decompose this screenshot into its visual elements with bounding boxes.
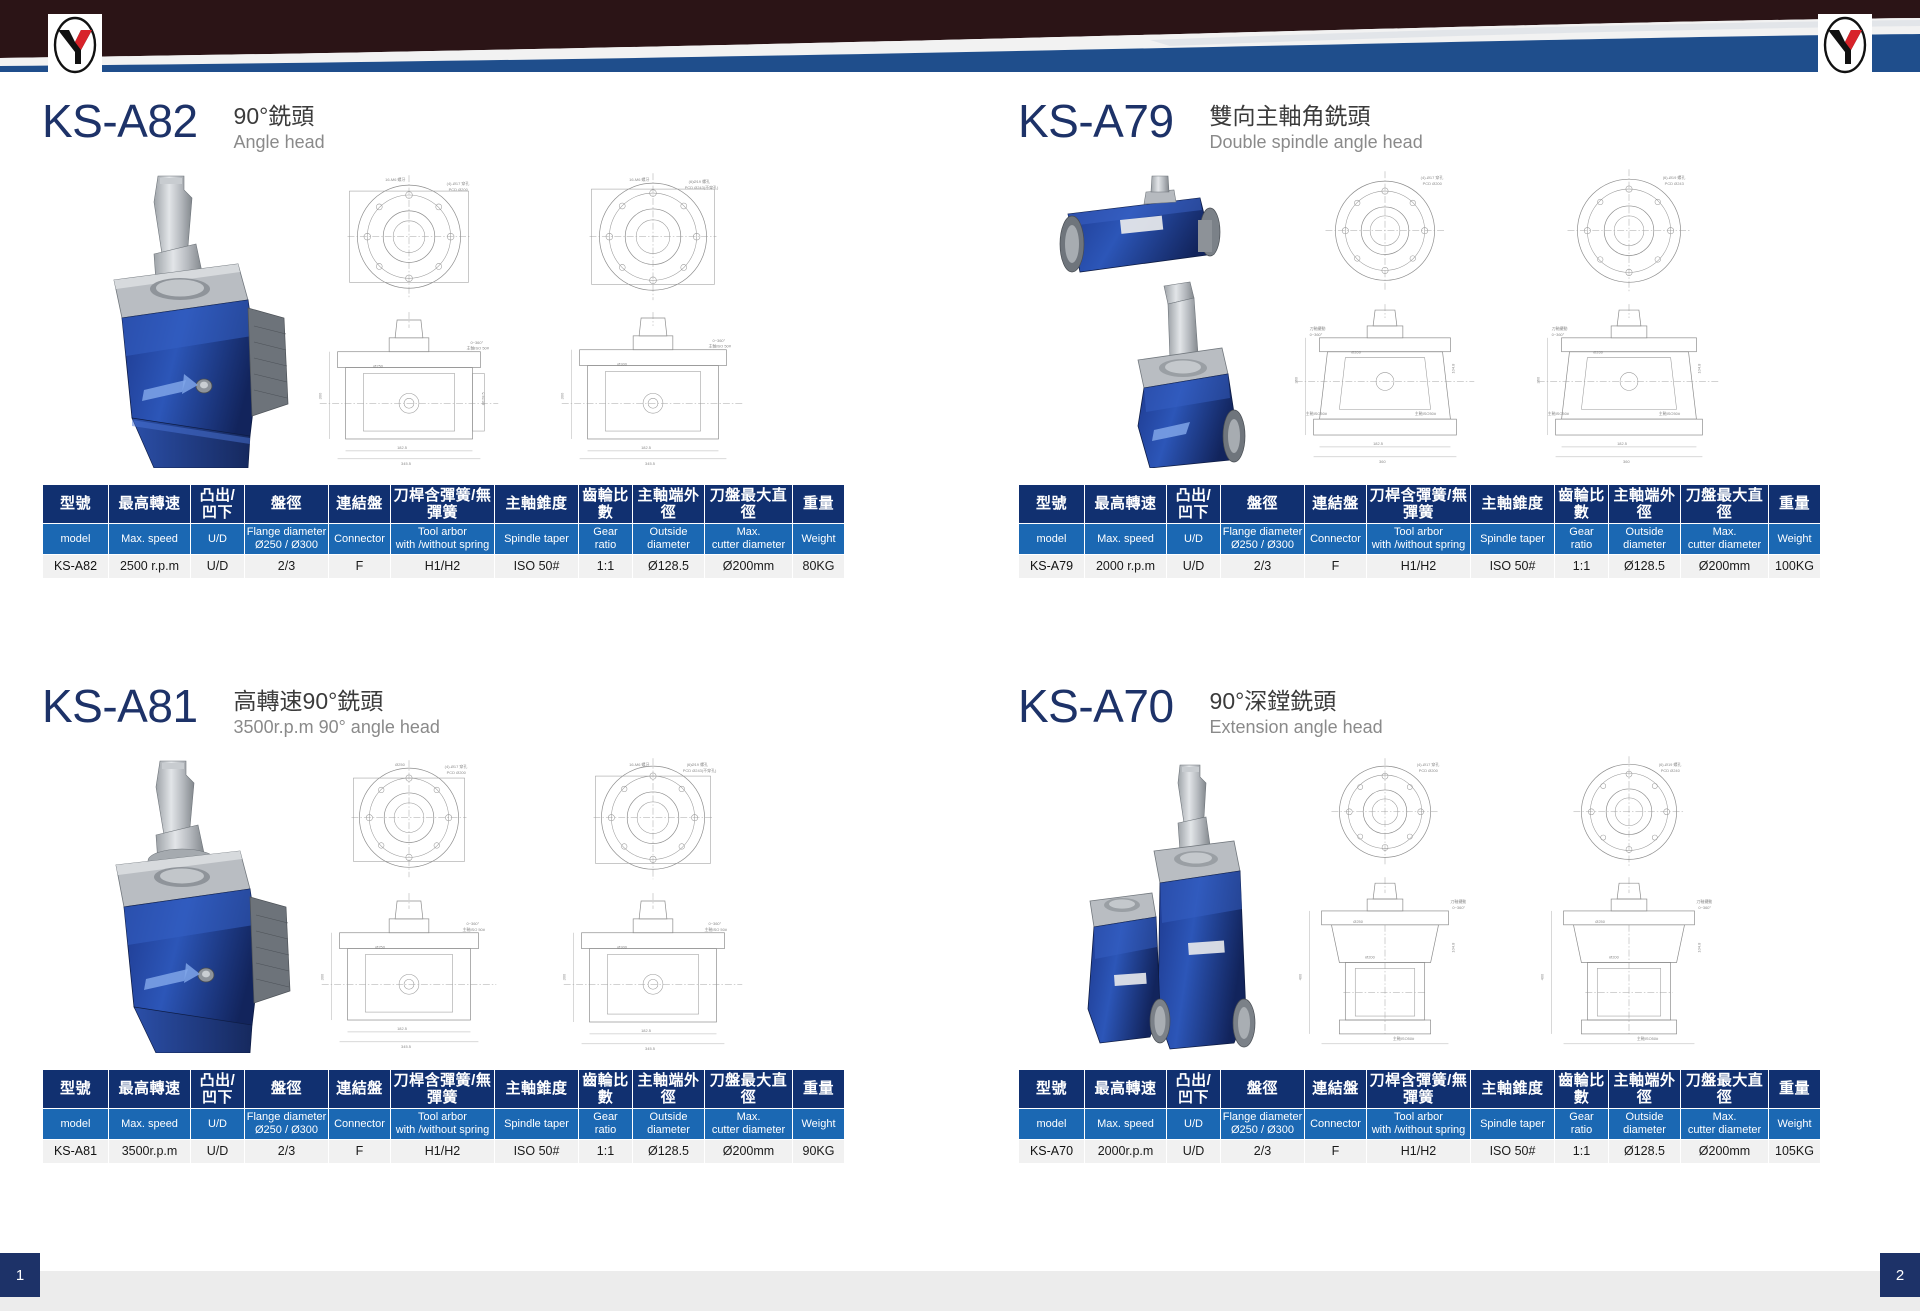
product-photo	[1038, 753, 1268, 1053]
svg-text:300: 300	[320, 972, 325, 979]
svg-text:主軸ISO50#: 主軸ISO50#	[1548, 411, 1570, 416]
svg-text:0~360°: 0~360°	[713, 337, 726, 342]
th-cn-2: 凸出/凹下	[1167, 484, 1221, 524]
svg-text:360: 360	[1623, 458, 1630, 463]
th-cn-7: 齒輪比數	[1555, 1069, 1609, 1109]
svg-text:300: 300	[318, 391, 323, 398]
th-en-4: Connector	[329, 524, 391, 555]
th-en-7: Gearratio	[1555, 524, 1609, 555]
svg-text:360: 360	[1379, 458, 1386, 463]
svg-text:主軸ISO 50#: 主軸ISO 50#	[467, 345, 490, 350]
cell-outside-diameter: Ø128.5	[633, 554, 705, 578]
product-media: 16-M6 螺牙 (4)-Ø17 穿孔 PCD Ø200	[42, 168, 772, 478]
svg-text:主軸ISO50#: 主軸ISO50#	[1306, 411, 1328, 416]
th-cn-6: 主軸錐度	[495, 484, 579, 524]
product-model-code: KS-A82	[42, 98, 198, 144]
th-cn-10: 重量	[1769, 1069, 1821, 1109]
product-title-row: KS-A82 90°銑頭 Angle head	[42, 98, 845, 154]
svg-text:104.8: 104.8	[1450, 362, 1455, 373]
svg-text:0~360°: 0~360°	[1310, 331, 1323, 336]
cell-max-speed: 2500 r.p.m	[109, 554, 191, 578]
cell-connector: F	[1305, 554, 1367, 578]
cell-spindle-taper: ISO 50#	[495, 554, 579, 578]
th-cn-8: 主軸端外徑	[1609, 1069, 1681, 1109]
product-title-row: KS-A81 高轉速90°銑頭 3500r.p.m 90° angle head	[42, 683, 845, 739]
th-cn-5: 刀桿含彈簧/無彈簧	[391, 484, 495, 524]
th-en-1: Max. speed	[109, 1109, 191, 1140]
th-en-8: Outsidediameter	[633, 1109, 705, 1140]
svg-text:Ø200: Ø200	[1609, 954, 1619, 959]
svg-text:(4)-Ø17 穿孔: (4)-Ø17 穿孔	[1417, 762, 1440, 767]
th-en-4: Connector	[329, 1109, 391, 1140]
product-title-row: KS-A70 90°深鏜銑頭 Extension angle head	[1018, 683, 1821, 739]
th-cn-4: 連結盤	[329, 1069, 391, 1109]
th-cn-6: 主軸錐度	[1471, 1069, 1555, 1109]
svg-text:0~360°: 0~360°	[470, 339, 483, 344]
th-cn-7: 齒輪比數	[579, 1069, 633, 1109]
product-title-en: Extension angle head	[1210, 716, 1383, 739]
svg-text:主軸ISO50#: 主軸ISO50#	[1415, 411, 1437, 416]
th-cn-9: 刀盤最大直徑	[705, 1069, 793, 1109]
svg-text:Ø200: Ø200	[1593, 349, 1603, 354]
th-cn-2: 凸出/凹下	[191, 484, 245, 524]
svg-text:(4)-Ø17 穿孔: (4)-Ø17 穿孔	[445, 764, 468, 769]
th-cn-10: 重量	[793, 1069, 845, 1109]
th-en-7: Gearratio	[579, 1109, 633, 1140]
product-title-en: Double spindle angle head	[1210, 131, 1423, 154]
th-cn-3: 盤徑	[1221, 1069, 1305, 1109]
spec-table-ks-a79: 型號 最高轉速 凸出/凹下 盤徑 連結盤 刀桿含彈簧/無彈簧 主軸錐度 齒輪比數…	[1018, 484, 1821, 579]
technical-drawings: (4)-Ø17 穿孔 PCD Ø200	[1266, 168, 1748, 468]
svg-text:16-M6 螺牙: 16-M6 螺牙	[629, 762, 649, 767]
th-en-6: Spindle taper	[1471, 1109, 1555, 1140]
th-en-2: U/D	[1167, 524, 1221, 555]
table-row: KS-A70 2000r.p.m U/D 2/3 F H1/H2 ISO 50#…	[1019, 1139, 1821, 1163]
table-header-en: model Max. speed U/D Flange diameterØ250…	[43, 1109, 845, 1140]
product-photo	[62, 753, 292, 1053]
product-media: Ø250 (4)-Ø17 穿孔 PCD Ø200	[42, 753, 772, 1063]
th-en-0: model	[43, 524, 109, 555]
cell-max-speed: 2000r.p.m	[1085, 1139, 1167, 1163]
table-row: KS-A82 2500 r.p.m U/D 2/3 F H1/H2 ISO 50…	[43, 554, 845, 578]
cell-connector: F	[329, 554, 391, 578]
product-title-cn: 90°銑頭	[234, 102, 325, 130]
page-number-right: 2	[1880, 1253, 1920, 1297]
drawing-side-view: (6)-Ø19 螺孔 PCD Ø240	[1510, 753, 1748, 1053]
svg-text:182.5: 182.5	[397, 1025, 408, 1030]
th-en-6: Spindle taper	[1471, 524, 1555, 555]
svg-text:Ø250: Ø250	[1595, 918, 1605, 923]
svg-text:(6)-Ø19 螺孔: (6)-Ø19 螺孔	[1663, 175, 1686, 180]
svg-text:PCD Ø243(不穿孔): PCD Ø243(不穿孔)	[683, 768, 717, 773]
cell-max-speed: 2000 r.p.m	[1085, 554, 1167, 578]
product-title-cn: 雙向主軸角銑頭	[1210, 102, 1423, 130]
svg-text:104.8: 104.8	[1696, 362, 1701, 373]
th-cn-1: 最高轉速	[109, 1069, 191, 1109]
page-number-left: 1	[0, 1253, 40, 1297]
svg-text:400: 400	[1298, 972, 1303, 979]
th-cn-5: 刀桿含彈簧/無彈簧	[1367, 1069, 1471, 1109]
th-cn-6: 主軸錐度	[495, 1069, 579, 1109]
th-cn-3: 盤徑	[245, 484, 329, 524]
th-en-1: Max. speed	[109, 524, 191, 555]
svg-text:刀軸擺動: 刀軸擺動	[1310, 325, 1326, 330]
svg-text:PCD Ø200: PCD Ø200	[449, 187, 469, 192]
svg-text:Ø300: Ø300	[617, 944, 627, 949]
th-en-9: Max.cutter diameter	[1681, 524, 1769, 555]
th-en-0: model	[1019, 1109, 1085, 1140]
th-cn-9: 刀盤最大直徑	[705, 484, 793, 524]
th-en-5: Tool arborwith /without spring	[1367, 1109, 1471, 1140]
product-title-en: Angle head	[234, 131, 325, 154]
cell-model: KS-A81	[43, 1139, 109, 1163]
svg-text:400: 400	[1540, 972, 1545, 979]
cell-connector: F	[1305, 1139, 1367, 1163]
th-cn-0: 型號	[43, 1069, 109, 1109]
th-en-3: Flange diameterØ250 / Ø300	[245, 524, 329, 555]
th-cn-4: 連結盤	[329, 484, 391, 524]
cell-max-cutter-diameter: Ø200mm	[705, 1139, 793, 1163]
th-en-9: Max.cutter diameter	[705, 524, 793, 555]
cell-max-cutter-diameter: Ø200mm	[705, 554, 793, 578]
table-header-cn: 型號 最高轉速 凸出/凹下 盤徑 連結盤 刀桿含彈簧/無彈簧 主軸錐度 齒輪比數…	[43, 1069, 845, 1109]
cell-max-cutter-diameter: Ø200mm	[1681, 1139, 1769, 1163]
th-en-3: Flange diameterØ250 / Ø300	[1221, 1109, 1305, 1140]
svg-text:Ø300: Ø300	[617, 361, 627, 366]
th-cn-4: 連結盤	[1305, 1069, 1367, 1109]
cell-tool-arbor: H1/H2	[1367, 1139, 1471, 1163]
th-en-2: U/D	[1167, 1109, 1221, 1140]
th-cn-3: 盤徑	[1221, 484, 1305, 524]
cell-gear-ratio: 1:1	[1555, 1139, 1609, 1163]
svg-text:PCD Ø200: PCD Ø200	[1419, 768, 1439, 773]
header-banner	[0, 0, 1920, 72]
spec-table-ks-a82: 型號 最高轉速 凸出/凹下 盤徑 連結盤 刀桿含彈簧/無彈簧 主軸錐度 齒輪比數…	[42, 484, 845, 579]
svg-text:0~360°: 0~360°	[1698, 904, 1711, 909]
company-logo-icon	[1818, 14, 1872, 76]
th-en-0: model	[43, 1109, 109, 1140]
cell-spindle-taper: ISO 50#	[495, 1139, 579, 1163]
table-header-cn: 型號 最高轉速 凸出/凹下 盤徑 連結盤 刀桿含彈簧/無彈簧 主軸錐度 齒輪比數…	[1019, 484, 1821, 524]
footer-bar	[0, 1271, 1920, 1311]
svg-text:(6)Ø19 螺孔: (6)Ø19 螺孔	[687, 762, 708, 767]
th-en-10: Weight	[1769, 524, 1821, 555]
drawing-side-view: (6)-Ø19 螺孔 PCD Ø243	[1510, 168, 1748, 468]
svg-text:PCD Ø240: PCD Ø240	[1661, 768, 1681, 773]
th-en-0: model	[1019, 524, 1085, 555]
th-cn-9: 刀盤最大直徑	[1681, 484, 1769, 524]
svg-text:182.5: 182.5	[641, 1027, 652, 1032]
th-en-4: Connector	[1305, 1109, 1367, 1140]
product-photo	[62, 168, 292, 468]
svg-text:360: 360	[1536, 376, 1541, 383]
table-header-en: model Max. speed U/D Flange diameterØ250…	[1019, 1109, 1821, 1140]
product-media: (4)-Ø17 穿孔 PCD Ø200	[1018, 753, 1748, 1063]
th-cn-5: 刀桿含彈簧/無彈簧	[391, 1069, 495, 1109]
cell-weight: 105KG	[1769, 1139, 1821, 1163]
svg-text:PCD Ø200: PCD Ø200	[1423, 181, 1443, 186]
svg-text:主軸ISO 50#: 主軸ISO 50#	[709, 343, 732, 348]
svg-text:主軸ISO 50#: 主軸ISO 50#	[705, 926, 728, 931]
svg-text:182.5: 182.5	[641, 444, 652, 449]
svg-text:16-M6 螺牙: 16-M6 螺牙	[385, 177, 405, 182]
cell-tool-arbor: H1/H2	[391, 1139, 495, 1163]
th-en-2: U/D	[191, 1109, 245, 1140]
svg-text:0~360°: 0~360°	[1452, 904, 1465, 909]
svg-text:300: 300	[560, 391, 565, 398]
cell-gear-ratio: 1:1	[1555, 554, 1609, 578]
svg-text:Ø200: Ø200	[1351, 349, 1361, 354]
cell-ud: U/D	[191, 554, 245, 578]
cell-flange-diameter: 2/3	[245, 554, 329, 578]
product-photo	[1038, 168, 1268, 468]
cell-model: KS-A82	[43, 554, 109, 578]
svg-text:182.5: 182.5	[1373, 440, 1384, 445]
cell-outside-diameter: Ø128.5	[1609, 1139, 1681, 1163]
product-media: (4)-Ø17 穿孔 PCD Ø200	[1018, 168, 1748, 478]
cell-flange-diameter: 2/3	[245, 1139, 329, 1163]
th-cn-10: 重量	[793, 484, 845, 524]
cell-tool-arbor: H1/H2	[391, 554, 495, 578]
th-cn-10: 重量	[1769, 484, 1821, 524]
cell-gear-ratio: 1:1	[579, 554, 633, 578]
spec-table-ks-a70: 型號 最高轉速 凸出/凹下 盤徑 連結盤 刀桿含彈簧/無彈簧 主軸錐度 齒輪比數…	[1018, 1069, 1821, 1164]
svg-text:182.5: 182.5	[397, 444, 408, 449]
th-cn-3: 盤徑	[245, 1069, 329, 1109]
table-row: KS-A79 2000 r.p.m U/D 2/3 F H1/H2 ISO 50…	[1019, 554, 1821, 578]
th-en-7: Gearratio	[1555, 1109, 1609, 1140]
svg-text:(6)-Ø19 螺孔: (6)-Ø19 螺孔	[1659, 762, 1682, 767]
product-block-ks-a81: KS-A81 高轉速90°銑頭 3500r.p.m 90° angle head	[42, 683, 845, 1164]
svg-text:Ø250: Ø250	[395, 762, 405, 767]
table-row: KS-A81 3500r.p.m U/D 2/3 F H1/H2 ISO 50#…	[43, 1139, 845, 1163]
drawing-front-view: Ø250 (4)-Ø17 穿孔 PCD Ø200	[290, 753, 528, 1053]
svg-text:(4)-Ø17 穿孔: (4)-Ø17 穿孔	[1421, 175, 1444, 180]
cell-ud: U/D	[1167, 554, 1221, 578]
svg-text:104.8: 104.8	[1450, 941, 1455, 952]
svg-text:Ø250: Ø250	[1353, 918, 1363, 923]
cell-model: KS-A79	[1019, 554, 1085, 578]
drawing-front-view: 16-M6 螺牙 (4)-Ø17 穿孔 PCD Ø200	[290, 168, 528, 468]
svg-text:(4)-Ø17 穿孔: (4)-Ø17 穿孔	[447, 181, 470, 186]
drawing-side-view: 16-M6 螺牙 (6)Ø19 螺孔 PCD Ø243(不穿孔)	[534, 168, 772, 468]
svg-text:刀軸擺動: 刀軸擺動	[1552, 325, 1568, 330]
svg-text:0~360°: 0~360°	[467, 920, 480, 925]
th-cn-7: 齒輪比數	[579, 484, 633, 524]
th-cn-0: 型號	[1019, 1069, 1085, 1109]
product-block-ks-a70: KS-A70 90°深鏜銑頭 Extension angle head	[1018, 683, 1821, 1164]
cell-connector: F	[329, 1139, 391, 1163]
svg-text:104.8: 104.8	[1696, 941, 1701, 952]
product-title-row: KS-A79 雙向主軸角銑頭 Double spindle angle head	[1018, 98, 1821, 154]
svg-text:0~360°: 0~360°	[1552, 331, 1565, 336]
th-en-5: Tool arborwith /without spring	[391, 1109, 495, 1140]
company-logo-icon	[48, 14, 102, 76]
th-en-9: Max.cutter diameter	[1681, 1109, 1769, 1140]
th-cn-5: 刀桿含彈簧/無彈簧	[1367, 484, 1471, 524]
th-en-10: Weight	[793, 1109, 845, 1140]
svg-text:PCD Ø200: PCD Ø200	[447, 770, 467, 775]
cell-weight: 100KG	[1769, 554, 1821, 578]
cell-tool-arbor: H1/H2	[1367, 554, 1471, 578]
technical-drawings: Ø250 (4)-Ø17 穿孔 PCD Ø200	[290, 753, 772, 1053]
product-title-en: 3500r.p.m 90° angle head	[234, 716, 440, 739]
svg-text:刀軸擺動: 刀軸擺動	[1696, 899, 1712, 904]
th-en-6: Spindle taper	[495, 1109, 579, 1140]
svg-text:Ø250: Ø250	[373, 363, 383, 368]
cell-model: KS-A70	[1019, 1139, 1085, 1163]
svg-text:360: 360	[1294, 376, 1299, 383]
svg-text:Ø128.5: Ø128.5	[480, 391, 485, 405]
th-cn-8: 主軸端外徑	[1609, 484, 1681, 524]
cell-ud: U/D	[191, 1139, 245, 1163]
table-header-en: model Max. speed U/D Flange diameterØ250…	[43, 524, 845, 555]
cell-max-cutter-diameter: Ø200mm	[1681, 554, 1769, 578]
th-en-4: Connector	[1305, 524, 1367, 555]
th-en-9: Max.cutter diameter	[705, 1109, 793, 1140]
th-en-3: Flange diameterØ250 / Ø300	[245, 1109, 329, 1140]
svg-text:Ø250: Ø250	[375, 944, 385, 949]
th-en-10: Weight	[793, 524, 845, 555]
svg-text:刀軸擺動: 刀軸擺動	[1450, 899, 1466, 904]
th-en-8: Outsidediameter	[633, 524, 705, 555]
svg-text:(6)Ø19 螺孔: (6)Ø19 螺孔	[689, 179, 710, 184]
th-en-6: Spindle taper	[495, 524, 579, 555]
svg-text:300: 300	[562, 972, 567, 979]
cell-spindle-taper: ISO 50#	[1471, 554, 1555, 578]
th-cn-9: 刀盤最大直徑	[1681, 1069, 1769, 1109]
th-en-1: Max. speed	[1085, 524, 1167, 555]
cell-weight: 80KG	[793, 554, 845, 578]
product-model-code: KS-A70	[1018, 683, 1174, 729]
cell-outside-diameter: Ø128.5	[1609, 554, 1681, 578]
product-block-ks-a79: KS-A79 雙向主軸角銑頭 Double spindle angle head	[1018, 98, 1821, 579]
svg-text:主軸ISO50#: 主軸ISO50#	[1393, 1035, 1415, 1040]
th-en-3: Flange diameterØ250 / Ø300	[1221, 524, 1305, 555]
product-model-code: KS-A81	[42, 683, 198, 729]
product-model-code: KS-A79	[1018, 98, 1174, 144]
catalog-page: KS-A82 90°銑頭 Angle head	[0, 0, 1920, 1311]
drawing-front-view: (4)-Ø17 穿孔 PCD Ø200	[1266, 753, 1504, 1053]
th-cn-2: 凸出/凹下	[191, 1069, 245, 1109]
svg-text:主軸ISO50#: 主軸ISO50#	[1659, 411, 1681, 416]
cell-ud: U/D	[1167, 1139, 1221, 1163]
th-en-8: Outsidediameter	[1609, 524, 1681, 555]
cell-outside-diameter: Ø128.5	[633, 1139, 705, 1163]
svg-text:0~360°: 0~360°	[709, 920, 722, 925]
table-header-cn: 型號 最高轉速 凸出/凹下 盤徑 連結盤 刀桿含彈簧/無彈簧 主軸錐度 齒輪比數…	[43, 484, 845, 524]
cell-gear-ratio: 1:1	[579, 1139, 633, 1163]
th-cn-1: 最高轉速	[109, 484, 191, 524]
svg-text:345.5: 345.5	[401, 460, 412, 465]
th-cn-7: 齒輪比數	[1555, 484, 1609, 524]
technical-drawings: (4)-Ø17 穿孔 PCD Ø200	[1266, 753, 1748, 1053]
th-cn-1: 最高轉速	[1085, 484, 1167, 524]
th-cn-8: 主軸端外徑	[633, 484, 705, 524]
cell-weight: 90KG	[793, 1139, 845, 1163]
svg-text:主軸ISO 50#: 主軸ISO 50#	[463, 926, 486, 931]
th-cn-6: 主軸錐度	[1471, 484, 1555, 524]
th-cn-8: 主軸端外徑	[633, 1069, 705, 1109]
svg-text:345.5: 345.5	[645, 460, 656, 465]
svg-text:182.5: 182.5	[1617, 440, 1628, 445]
product-title-cn: 90°深鏜銑頭	[1210, 687, 1383, 715]
cell-spindle-taper: ISO 50#	[1471, 1139, 1555, 1163]
svg-text:主軸ISO50#: 主軸ISO50#	[1637, 1035, 1659, 1040]
th-en-5: Tool arborwith /without spring	[1367, 524, 1471, 555]
th-cn-4: 連結盤	[1305, 484, 1367, 524]
drawing-front-view: (4)-Ø17 穿孔 PCD Ø200	[1266, 168, 1504, 468]
technical-drawings: 16-M6 螺牙 (4)-Ø17 穿孔 PCD Ø200	[290, 168, 772, 468]
cell-max-speed: 3500r.p.m	[109, 1139, 191, 1163]
th-cn-2: 凸出/凹下	[1167, 1069, 1221, 1109]
spec-table-ks-a81: 型號 最高轉速 凸出/凹下 盤徑 連結盤 刀桿含彈簧/無彈簧 主軸錐度 齒輪比數…	[42, 1069, 845, 1164]
table-header-cn: 型號 最高轉速 凸出/凹下 盤徑 連結盤 刀桿含彈簧/無彈簧 主軸錐度 齒輪比數…	[1019, 1069, 1821, 1109]
th-cn-1: 最高轉速	[1085, 1069, 1167, 1109]
table-header-en: model Max. speed U/D Flange diameterØ250…	[1019, 524, 1821, 555]
svg-text:345.5: 345.5	[645, 1045, 656, 1050]
svg-text:Ø200: Ø200	[1365, 954, 1375, 959]
svg-text:345.5: 345.5	[401, 1043, 412, 1048]
product-block-ks-a82: KS-A82 90°銑頭 Angle head	[42, 98, 845, 579]
cell-flange-diameter: 2/3	[1221, 554, 1305, 578]
svg-text:PCD Ø243(不穿孔): PCD Ø243(不穿孔)	[685, 185, 719, 190]
svg-text:PCD Ø243: PCD Ø243	[1665, 181, 1685, 186]
th-cn-0: 型號	[1019, 484, 1085, 524]
product-title-cn: 高轉速90°銑頭	[234, 687, 440, 715]
th-cn-0: 型號	[43, 484, 109, 524]
th-en-1: Max. speed	[1085, 1109, 1167, 1140]
drawing-side-view: 16-M6 螺牙 (6)Ø19 螺孔 PCD Ø243(不穿孔)	[534, 753, 772, 1053]
th-en-8: Outsidediameter	[1609, 1109, 1681, 1140]
th-en-7: Gearratio	[579, 524, 633, 555]
svg-text:16-M6 螺牙: 16-M6 螺牙	[629, 177, 649, 182]
cell-flange-diameter: 2/3	[1221, 1139, 1305, 1163]
th-en-2: U/D	[191, 524, 245, 555]
th-en-10: Weight	[1769, 1109, 1821, 1140]
th-en-5: Tool arborwith /without spring	[391, 524, 495, 555]
